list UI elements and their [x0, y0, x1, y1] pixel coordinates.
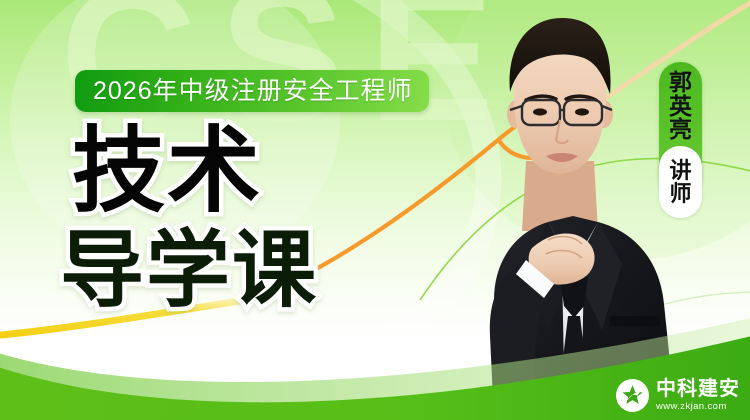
course-poster: CSE 2026年中级注册安全工程师 技术 导学课: [0, 0, 750, 420]
mouth: [546, 153, 578, 162]
hand-fingers-2: [546, 251, 582, 258]
lapel-left: [526, 222, 574, 328]
shirt-cuff: [516, 260, 554, 298]
brand-name: 中科建安: [656, 379, 740, 399]
brand-url: www.zkjan.com: [656, 402, 740, 412]
headline-block: 技术 导学课: [60, 126, 420, 311]
hand: [529, 233, 595, 284]
ear-right: [595, 100, 613, 128]
course-title-text: 2026年中级注册安全工程师: [93, 79, 413, 104]
decor-blob-right: [445, 0, 750, 260]
headline-line-1: 技术: [72, 126, 420, 217]
dress-shirt: [548, 222, 598, 316]
instructor-role-badge: 讲 师: [659, 146, 702, 218]
nose: [556, 120, 568, 143]
instructor-name-char-1: 郭: [669, 71, 692, 95]
brand-logo: 中科建安 www.zkjan.com: [616, 379, 740, 412]
neck: [522, 161, 598, 231]
brand-text-block: 中科建安 www.zkjan.com: [656, 379, 740, 412]
star-arrow-icon: [620, 383, 645, 408]
face: [513, 22, 607, 174]
eye-left: [533, 108, 547, 115]
suit-sleeve-left: [490, 262, 550, 420]
necktie-blade: [560, 316, 588, 398]
hand-fingers: [548, 237, 582, 244]
instructor-role-char-2: 师: [669, 182, 691, 205]
instructor-role-char-1: 讲: [669, 159, 691, 182]
eyeglasses: [510, 100, 612, 125]
hair: [510, 18, 611, 94]
shirt-placket: [562, 268, 584, 420]
instructor-name-char-2: 英: [669, 95, 692, 119]
breast-pocket: [610, 316, 660, 326]
eye-right: [575, 108, 589, 115]
course-title-badge: 2026年中级注册安全工程师: [75, 70, 429, 112]
lapel-right: [574, 222, 622, 330]
ear-left: [507, 100, 525, 128]
eyebrow-left: [526, 96, 556, 100]
brand-mark-circle: [616, 379, 649, 412]
instructor-name-char-3: 亮: [669, 118, 692, 142]
eyebrow-right: [566, 96, 596, 100]
necktie-knot: [560, 264, 588, 318]
headline-line-2: 导学课: [60, 229, 420, 311]
